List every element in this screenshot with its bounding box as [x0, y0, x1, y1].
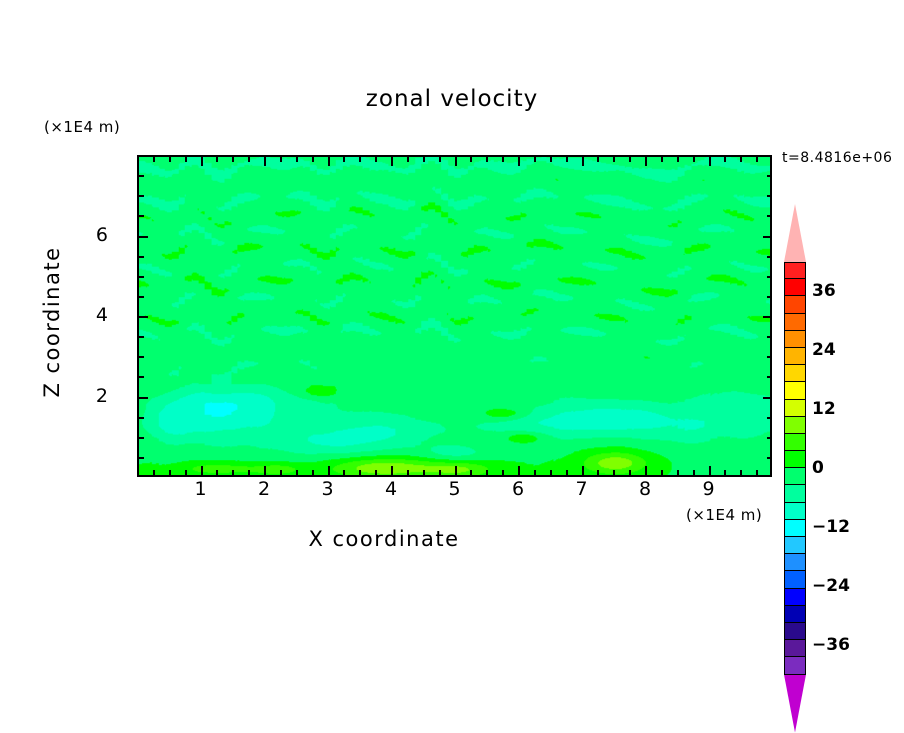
y-tick-label: 4: [60, 304, 108, 326]
y-tick: [767, 336, 772, 338]
colorbar-cell: [784, 365, 806, 382]
x-tick: [359, 157, 361, 162]
x-tick: [677, 470, 679, 475]
time-annotation: t=8.4816e+06: [782, 150, 892, 166]
x-axis-unit-label: (×1E4 m): [686, 506, 762, 524]
x-tick: [693, 470, 695, 475]
x-tick: [248, 470, 250, 475]
x-tick: [470, 470, 472, 475]
y-tick: [763, 236, 772, 238]
colorbar-cell: [784, 589, 806, 606]
x-tick: [407, 157, 409, 162]
x-tick: [661, 157, 663, 162]
y-axis-unit-label: (×1E4 m): [44, 118, 120, 136]
colorbar-cell: [784, 348, 806, 365]
x-tick-label: 9: [689, 478, 729, 500]
x-tick: [296, 157, 298, 162]
x-tick: [423, 470, 425, 475]
x-tick: [724, 157, 726, 162]
colorbar: [784, 204, 806, 733]
x-tick: [550, 157, 552, 162]
x-tick: [534, 470, 536, 475]
x-tick-label: 2: [244, 478, 284, 500]
x-tick-label: 7: [562, 478, 602, 500]
colorbar-cell: [784, 554, 806, 571]
x-tick: [407, 470, 409, 475]
y-tick: [767, 296, 772, 298]
colorbar-cell: [784, 296, 806, 313]
x-tick: [582, 157, 584, 166]
x-tick: [709, 157, 711, 166]
colorbar-tick-label: 36: [812, 281, 836, 301]
y-tick: [767, 417, 772, 419]
x-tick-label: 5: [435, 478, 475, 500]
colorbar-cell: [784, 451, 806, 468]
x-tick: [185, 157, 187, 162]
x-tick: [280, 470, 282, 475]
x-tick: [740, 157, 742, 162]
x-tick: [153, 157, 155, 162]
contour-field: [139, 157, 770, 475]
y-tick: [139, 256, 144, 258]
colorbar-tick-label: −12: [812, 517, 850, 537]
colorbar-cell: [784, 400, 806, 417]
colorbar-cell: [784, 331, 806, 348]
colorbar-tick-label: 24: [812, 340, 836, 360]
x-tick: [375, 470, 377, 475]
x-tick: [312, 470, 314, 475]
x-tick: [439, 157, 441, 162]
colorbar-cell: [784, 279, 806, 296]
x-tick-label: 3: [308, 478, 348, 500]
x-tick: [216, 470, 218, 475]
x-tick: [248, 157, 250, 162]
colorbar-cell: [784, 537, 806, 554]
y-tick-label: 2: [60, 385, 108, 407]
x-tick: [232, 157, 234, 162]
x-tick: [423, 157, 425, 162]
colorbar-cell: [784, 434, 806, 451]
colorbar-cell: [784, 485, 806, 502]
x-tick: [613, 470, 615, 475]
y-tick: [767, 276, 772, 278]
x-tick: [518, 466, 520, 475]
x-tick: [629, 470, 631, 475]
colorbar-cell: [784, 640, 806, 657]
y-tick: [139, 457, 144, 459]
y-tick: [767, 376, 772, 378]
x-tick: [613, 157, 615, 162]
x-tick: [216, 157, 218, 162]
colorbar-cell: [784, 520, 806, 537]
x-tick: [264, 466, 266, 475]
x-tick: [502, 157, 504, 162]
y-tick: [763, 316, 772, 318]
x-tick: [566, 157, 568, 162]
x-tick: [343, 157, 345, 162]
y-tick: [139, 195, 144, 197]
colorbar-cell: [784, 382, 806, 399]
y-tick: [767, 256, 772, 258]
y-tick: [767, 356, 772, 358]
x-tick: [328, 466, 330, 475]
colorbar-bottom-cap: [784, 675, 806, 733]
x-tick: [264, 157, 266, 166]
x-tick: [597, 157, 599, 162]
y-tick: [767, 215, 772, 217]
x-tick: [201, 466, 203, 475]
x-tick: [391, 466, 393, 475]
y-tick: [139, 296, 144, 298]
x-tick: [455, 157, 457, 166]
x-tick: [645, 157, 647, 166]
y-tick: [139, 215, 144, 217]
x-tick: [486, 470, 488, 475]
x-tick: [740, 470, 742, 475]
x-tick: [185, 470, 187, 475]
x-tick: [582, 466, 584, 475]
y-tick: [139, 356, 144, 358]
x-tick: [756, 470, 758, 475]
x-tick: [645, 466, 647, 475]
x-tick-label: 8: [625, 478, 665, 500]
x-tick: [724, 470, 726, 475]
x-tick: [343, 470, 345, 475]
page-title: zonal velocity: [0, 86, 904, 112]
x-tick: [312, 157, 314, 162]
x-tick: [693, 157, 695, 162]
x-tick: [550, 470, 552, 475]
x-tick: [756, 157, 758, 162]
x-tick: [677, 157, 679, 162]
contour-plot-figure: zonal velocity (×1E4 m) (×1E4 m) t=8.481…: [0, 0, 904, 654]
x-tick: [470, 157, 472, 162]
y-tick: [139, 397, 148, 399]
colorbar-cell: [784, 417, 806, 434]
y-tick: [139, 437, 144, 439]
x-tick: [169, 157, 171, 162]
colorbar-tick-label: 12: [812, 399, 836, 419]
y-tick: [139, 236, 148, 238]
x-tick-label: 1: [181, 478, 221, 500]
colorbar-cell: [784, 606, 806, 623]
colorbar-cell: [784, 657, 806, 674]
y-tick: [139, 175, 144, 177]
x-tick: [391, 157, 393, 166]
colorbar-cell: [784, 503, 806, 520]
plot-area: [137, 155, 772, 477]
colorbar-top-cap: [784, 204, 806, 262]
y-tick: [139, 336, 144, 338]
x-tick: [566, 470, 568, 475]
x-tick-label: 4: [371, 478, 411, 500]
x-tick: [597, 470, 599, 475]
colorbar-cell: [784, 468, 806, 485]
y-tick-label: 6: [60, 224, 108, 246]
x-tick: [439, 470, 441, 475]
x-tick: [201, 157, 203, 166]
colorbar-tick-label: −24: [812, 576, 850, 596]
x-tick: [280, 157, 282, 162]
x-tick: [169, 470, 171, 475]
x-tick: [375, 157, 377, 162]
y-tick: [139, 376, 144, 378]
colorbar-cell: [784, 623, 806, 640]
x-tick: [534, 157, 536, 162]
colorbar-cell: [784, 571, 806, 588]
y-tick: [139, 417, 144, 419]
colorbar-cell: [784, 314, 806, 331]
x-tick: [629, 157, 631, 162]
colorbar-cell: [784, 262, 806, 279]
x-axis-title: X coordinate: [0, 527, 768, 551]
colorbar-tick-label: 0: [812, 458, 824, 478]
y-tick: [767, 457, 772, 459]
y-tick: [763, 397, 772, 399]
y-tick: [139, 316, 148, 318]
x-tick: [153, 470, 155, 475]
colorbar-tick-label: −36: [812, 635, 850, 655]
x-tick: [661, 470, 663, 475]
x-tick: [296, 470, 298, 475]
x-tick: [455, 466, 457, 475]
y-tick: [139, 276, 144, 278]
x-tick: [709, 466, 711, 475]
x-tick: [518, 157, 520, 166]
x-tick-label: 6: [498, 478, 538, 500]
x-tick: [232, 470, 234, 475]
colorbar-cells: [784, 262, 806, 675]
x-tick: [328, 157, 330, 166]
y-tick: [767, 195, 772, 197]
x-tick: [359, 470, 361, 475]
y-tick: [767, 175, 772, 177]
y-tick: [767, 437, 772, 439]
x-tick: [486, 157, 488, 162]
x-tick: [502, 470, 504, 475]
